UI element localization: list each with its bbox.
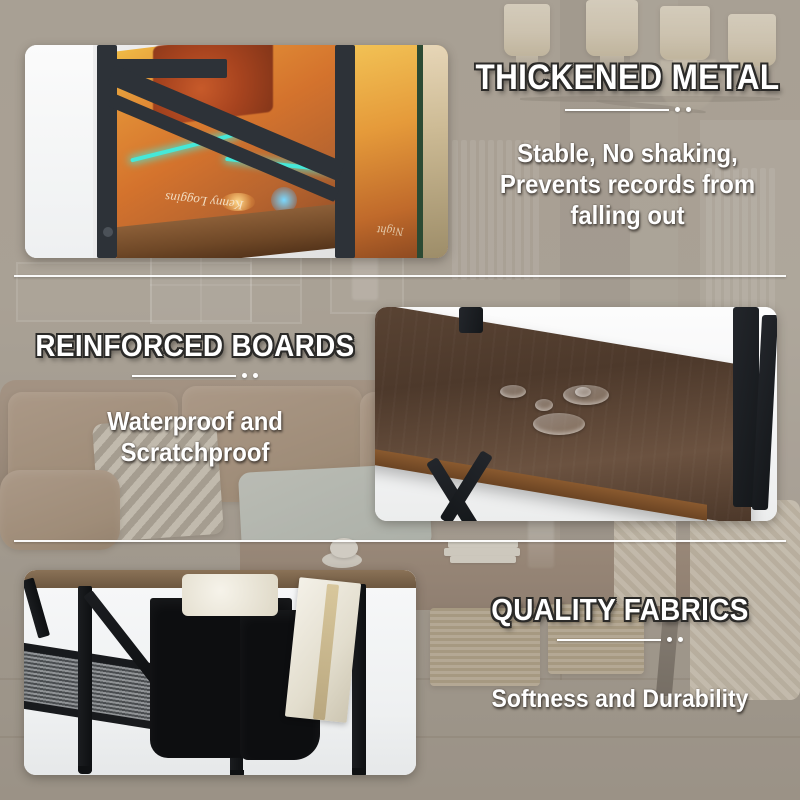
frame-foot [230,770,244,775]
feature-photo-vinyl-records-in-metal-rack: Kenny Loggins Night [25,45,448,258]
rule-dot [242,373,247,378]
frame-bolt [103,227,113,237]
rule-bar [557,639,661,641]
frame-foot [78,766,92,774]
record-sleeve [423,45,448,258]
water-droplet [500,385,526,398]
heading-rule [455,107,800,112]
feature-text-thickened-metal: THICKENED METAL Stable, No shaking, Prev… [455,58,800,232]
feature-subtitle-line: falling out [469,200,786,231]
infographic-canvas: Kenny Loggins Night [0,0,800,800]
divider-top [14,275,786,277]
feature-heading: QUALITY FABRICS [458,592,782,628]
album-signature-text-2: Night [377,222,405,239]
rule-dot [253,373,258,378]
rule-dot [667,637,672,642]
rule-dot [686,107,691,112]
heading-rule [440,637,800,642]
feature-subtitle-line: Softness and Durability [454,684,785,714]
water-droplet [535,399,553,411]
water-droplet [575,387,591,397]
feature-text-quality-fabrics: QUALITY FABRICS Softness and Durability [440,592,800,714]
white-panel [25,45,93,258]
divider-bottom [14,540,786,542]
feature-heading: REINFORCED BOARDS [29,328,362,364]
feature-text-reinforced-boards: REINFORCED BOARDS Waterproof and Scratch… [10,328,380,468]
feature-photo-black-fabric-sling-on-metal-frame [24,570,416,775]
feature-photo-water-droplets-on-wood-tabletop [375,307,777,521]
feature-subtitle-line: Scratchproof [25,437,365,468]
metal-table-leg [459,307,483,333]
metal-frame-post [78,586,92,772]
frame-foot [352,768,366,775]
feature-subtitle-line: Stable, No shaking, [469,138,786,169]
feature-subtitle-line: Prevents records from [469,169,786,200]
feature-subtitle: Softness and Durability [454,684,785,714]
rule-dot [678,637,683,642]
feature-subtitle-line: Waterproof and [25,406,365,437]
feature-subtitle: Waterproof and Scratchproof [25,406,365,468]
rule-dot [675,107,680,112]
feature-heading: THICKENED METAL [472,58,783,98]
book-in-sling [182,574,278,616]
feature-subtitle: Stable, No shaking, Prevents records fro… [469,138,786,232]
rule-bar [565,109,669,111]
metal-frame-post [335,45,355,258]
rule-bar [132,375,236,377]
water-droplet [533,413,585,435]
heading-rule [10,373,380,378]
